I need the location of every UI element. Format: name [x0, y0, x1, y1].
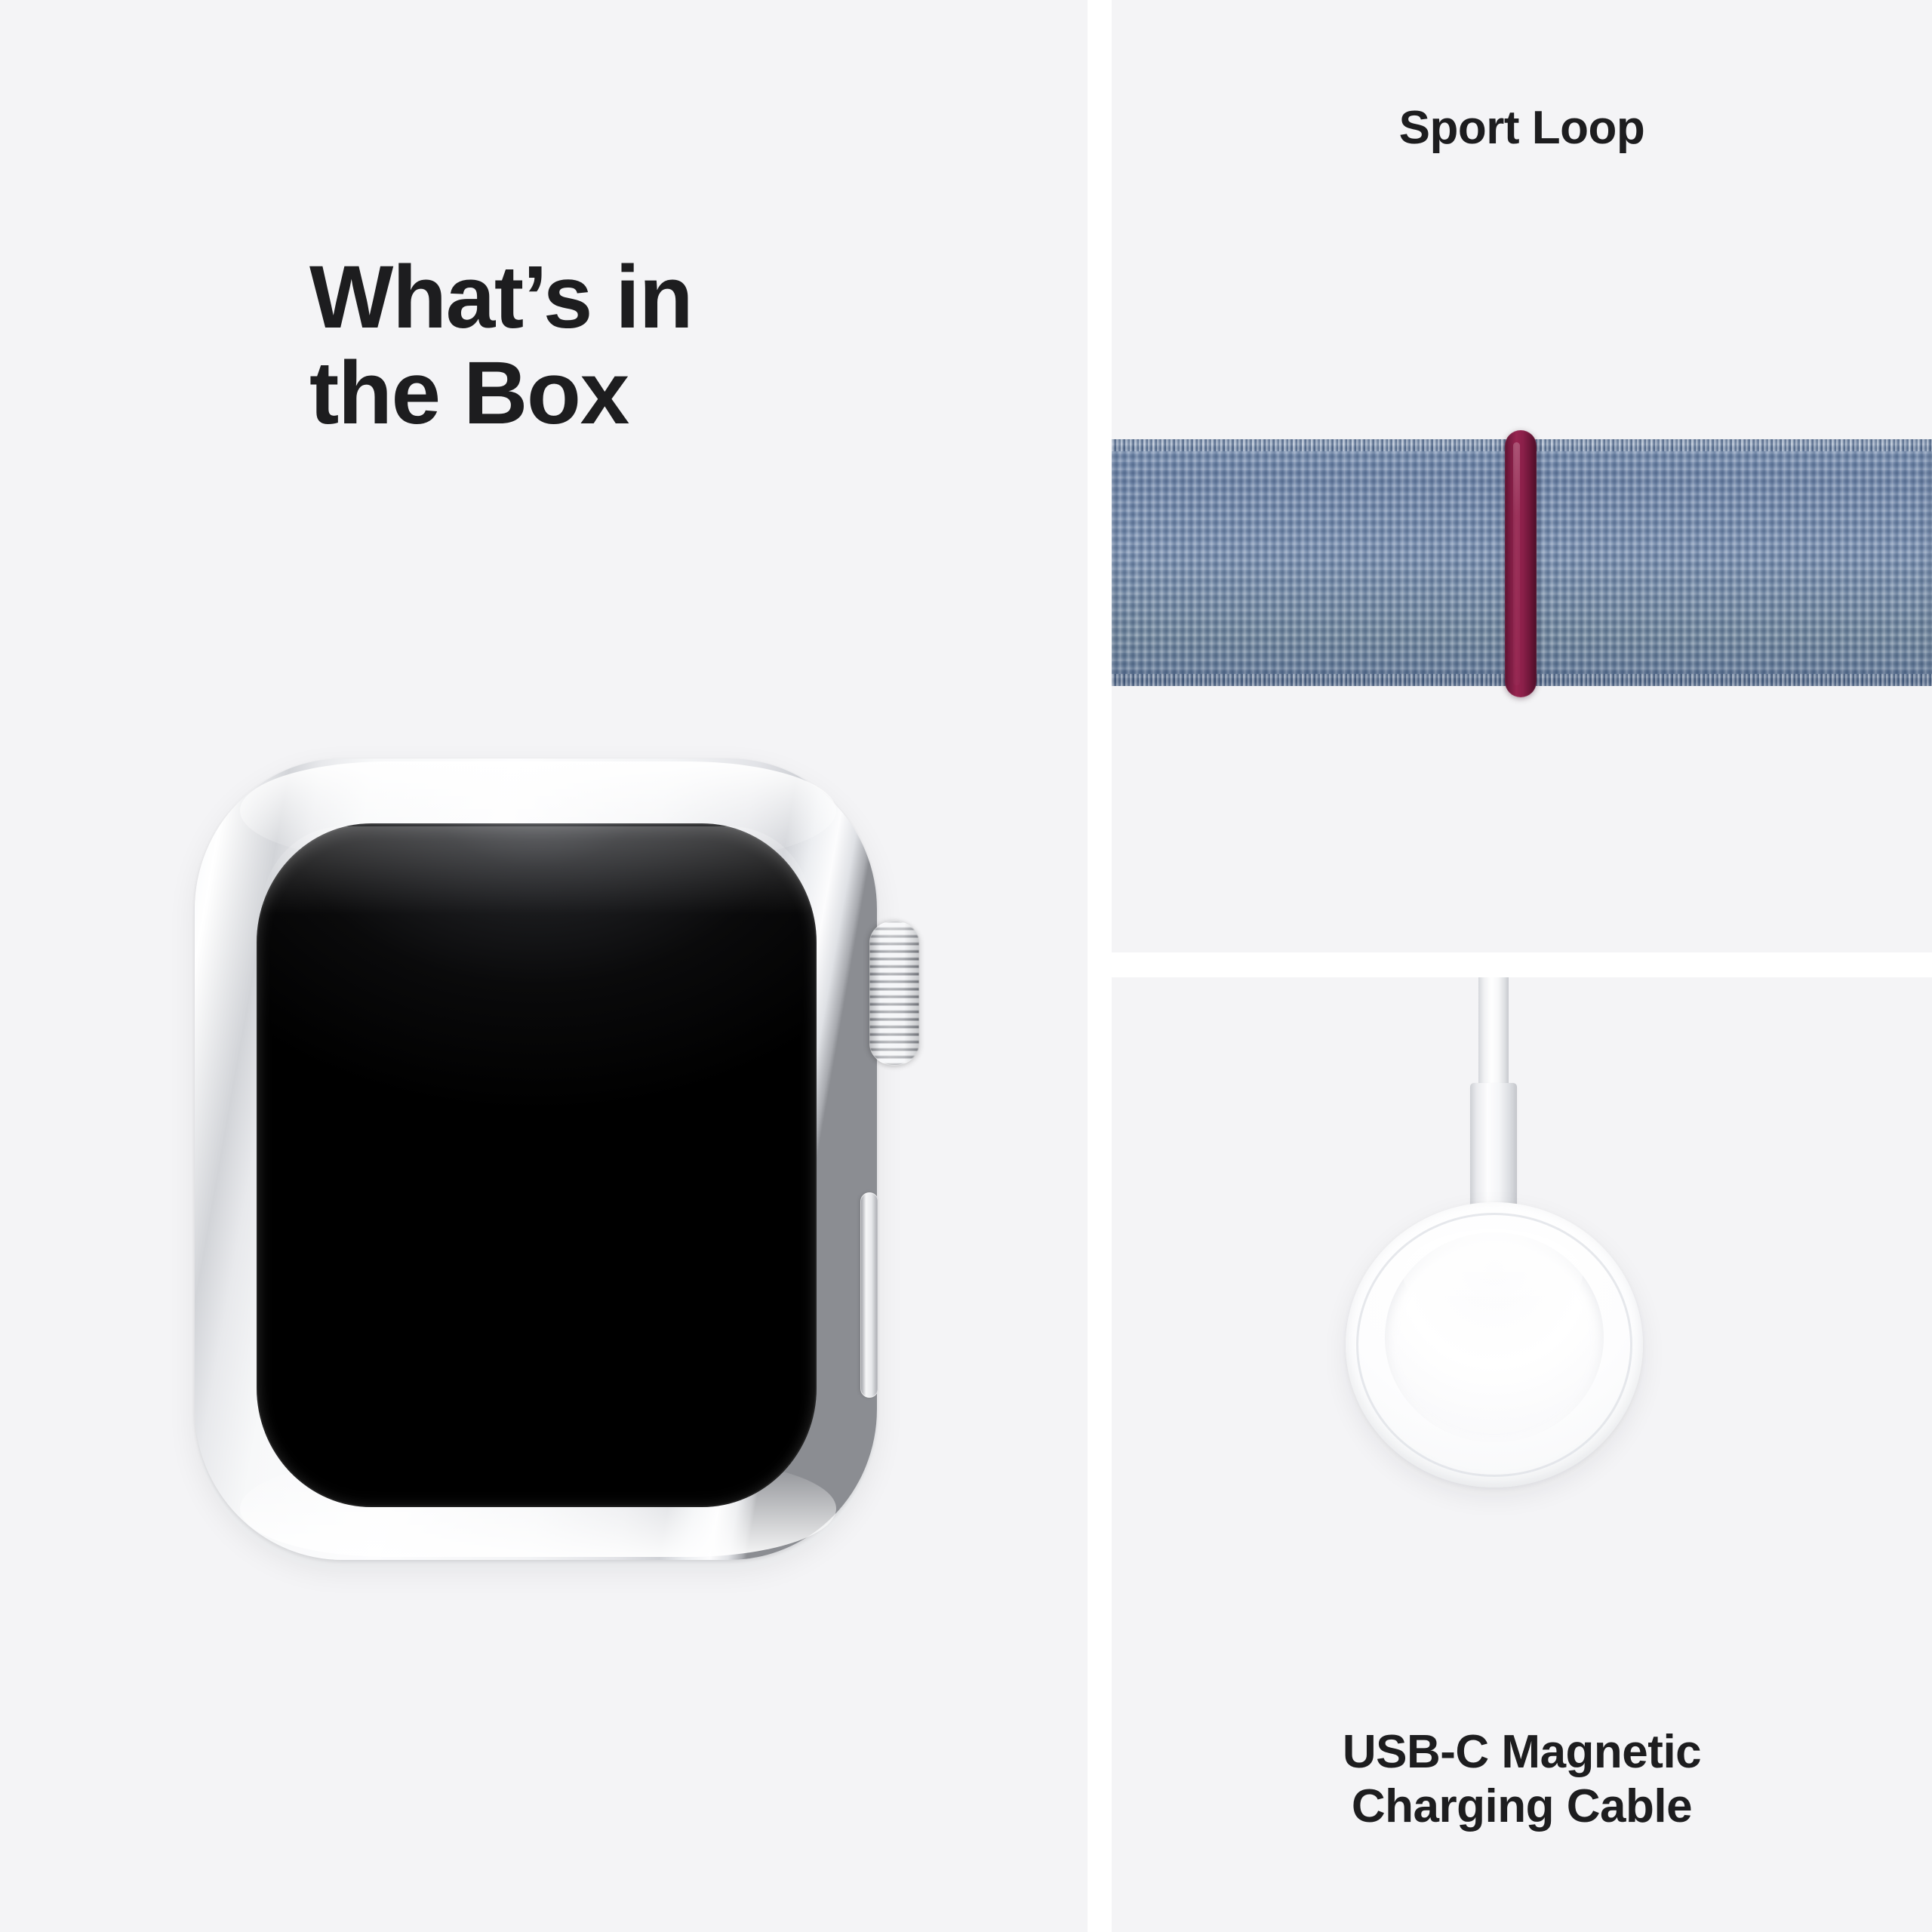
- sport-loop-pull-tab: [1505, 430, 1537, 697]
- panel-watch: What’s in the Box: [0, 0, 1088, 1932]
- charging-cable-label-line-1: USB-C Magnetic: [1112, 1725, 1932, 1780]
- charging-cable-strain-relief: [1470, 1083, 1517, 1216]
- side-button: [860, 1192, 878, 1398]
- watch-display: [257, 823, 817, 1507]
- sport-loop-label: Sport Loop: [1112, 103, 1932, 154]
- sport-loop-pull-tab-highlight: [1513, 442, 1520, 685]
- page-title-line-2: the Box: [309, 343, 629, 443]
- watch-display-glare: [263, 826, 811, 940]
- charging-cable-label-line-2: Charging Cable: [1112, 1780, 1932, 1834]
- magnetic-charging-puck: [1346, 1202, 1643, 1487]
- whats-in-the-box-layout: What’s in the Box Sport Loop: [0, 0, 1932, 1932]
- apple-watch-image: [190, 753, 930, 1568]
- page-title-line-1: What’s in: [309, 248, 692, 347]
- charging-cable-label: USB-C Magnetic Charging Cable: [1112, 1725, 1932, 1834]
- digital-crown-shading: [869, 921, 919, 1066]
- charging-cable-cord: [1478, 977, 1509, 1089]
- panel-charging-cable: USB-C Magnetic Charging Cable: [1112, 977, 1932, 1932]
- watch-case: [195, 758, 877, 1560]
- charging-puck-inner-disc: [1385, 1232, 1604, 1442]
- page-title: What’s in the Box: [309, 250, 792, 442]
- digital-crown: [869, 921, 919, 1066]
